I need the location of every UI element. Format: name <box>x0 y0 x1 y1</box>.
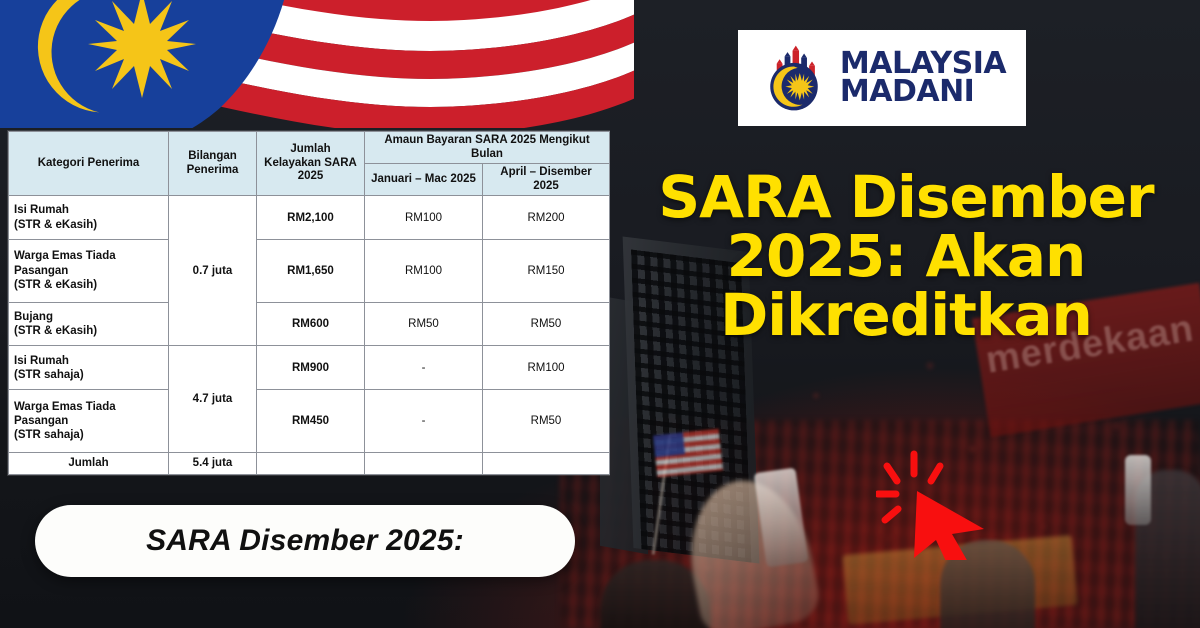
th-amaun-bayaran-group: Amaun Bayaran SARA 2025 Mengikut Bulan <box>365 132 610 164</box>
cell-jan-mac: - <box>365 346 483 390</box>
cell-category: Warga Emas Tiada Pasangan(STR sahaja) <box>9 390 169 453</box>
cell-jan-mac: - <box>365 390 483 453</box>
cell-category: Isi Rumah(STR sahaja) <box>9 346 169 390</box>
background-small-flag <box>653 429 723 478</box>
table-body: Isi Rumah(STR & eKasih) 0.7 juta RM2,100… <box>9 196 610 475</box>
malaysia-madani-logo-card: MALAYSIA MADANI <box>738 30 1026 126</box>
malaysia-madani-icon <box>758 42 830 114</box>
page-title: SARA Disember 2025: Akan Dikreditkan <box>612 168 1200 345</box>
table-row: Isi Rumah(STR sahaja) 4.7 juta RM900 - R… <box>9 346 610 390</box>
table-row: Bujang(STR & eKasih) RM600 RM50 RM50 <box>9 302 610 346</box>
sara-payment-table: Kategori Penerima Bilangan Penerima Juml… <box>8 131 609 475</box>
cell-total-apr-dis <box>483 452 610 474</box>
cell-apr-dis: RM200 <box>483 196 610 240</box>
table-row: Warga Emas Tiada Pasangan(STR sahaja) RM… <box>9 390 610 453</box>
cell-category: Bujang(STR & eKasih) <box>9 302 169 346</box>
cell-apr-dis: RM50 <box>483 302 610 346</box>
title-line-1: SARA Disember <box>612 168 1200 227</box>
th-bilangan-penerima: Bilangan Penerima <box>169 132 257 196</box>
cell-total-kelayakan <box>257 452 365 474</box>
cell-apr-dis: RM150 <box>483 240 610 303</box>
table-row: Isi Rumah(STR & eKasih) 0.7 juta RM2,100… <box>9 196 610 240</box>
cell-jan-mac: RM100 <box>365 196 483 240</box>
cell-total-label: Jumlah <box>9 452 169 474</box>
cell-total-jan-mac <box>365 452 483 474</box>
table-total-row: Jumlah 5.4 juta <box>9 452 610 474</box>
malaysia-flag-icon <box>0 0 634 128</box>
th-kategori-penerima: Kategori Penerima <box>9 132 169 196</box>
cell-jan-mac: RM100 <box>365 240 483 303</box>
cell-bilangan-group-1: 0.7 juta <box>169 196 257 346</box>
th-jumlah-kelayakan: Jumlah Kelayakan SARA 2025 <box>257 132 365 196</box>
cell-jumlah-kelayakan: RM2,100 <box>257 196 365 240</box>
cell-apr-dis: RM100 <box>483 346 610 390</box>
cell-category: Warga Emas Tiada Pasangan(STR & eKasih) <box>9 240 169 303</box>
cell-jumlah-kelayakan: RM450 <box>257 390 365 453</box>
cell-category: Isi Rumah(STR & eKasih) <box>9 196 169 240</box>
th-april-disember: April – Disember 2025 <box>483 164 610 196</box>
table-header-row-1: Kategori Penerima Bilangan Penerima Juml… <box>9 132 610 164</box>
cell-jumlah-kelayakan: RM600 <box>257 302 365 346</box>
title-line-2: 2025: Akan <box>612 227 1200 286</box>
background-bottle <box>1125 455 1151 525</box>
logo-text-line2: MADANI <box>840 78 1006 106</box>
pill-label: SARA Disember 2025: <box>146 524 464 558</box>
cell-bilangan-group-2: 4.7 juta <box>169 346 257 452</box>
table-row: Warga Emas Tiada Pasangan(STR & eKasih) … <box>9 240 610 303</box>
cell-jan-mac: RM50 <box>365 302 483 346</box>
th-januari-mac: Januari – Mac 2025 <box>365 164 483 196</box>
title-line-3: Dikreditkan <box>612 286 1200 345</box>
cell-apr-dis: RM50 <box>483 390 610 453</box>
sara-label-pill[interactable]: SARA Disember 2025: <box>35 505 575 577</box>
cell-total-count: 5.4 juta <box>169 452 257 474</box>
poster-canvas: merdekaan <box>0 0 1200 628</box>
cell-jumlah-kelayakan: RM900 <box>257 346 365 390</box>
mouse-pointer-click-icon <box>876 450 996 560</box>
cell-jumlah-kelayakan: RM1,650 <box>257 240 365 303</box>
